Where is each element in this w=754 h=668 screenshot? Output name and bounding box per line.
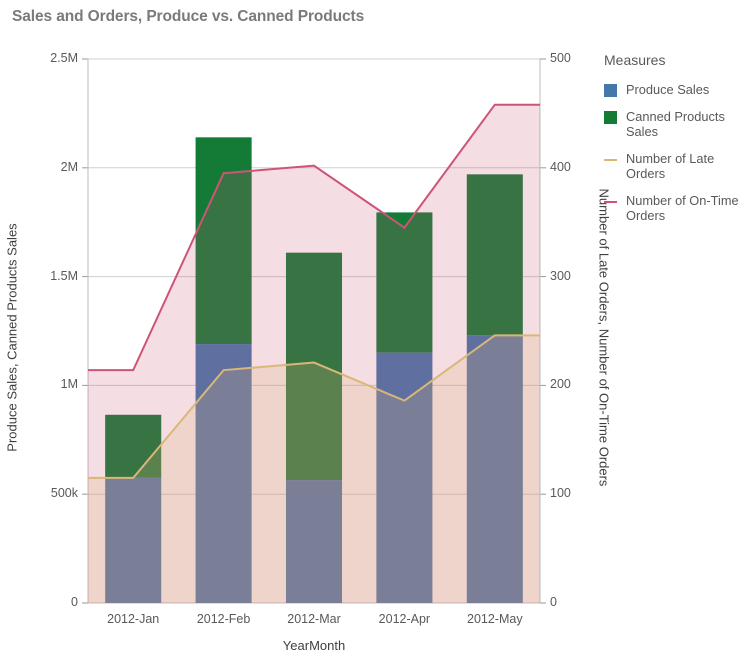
x-axis-tick-label[interactable]: 2012-Mar <box>268 612 360 626</box>
legend-item[interactable]: Canned Products Sales <box>604 109 750 140</box>
legend: Measures Produce SalesCanned Products Sa… <box>604 52 750 235</box>
legend-item-label: Canned Products Sales <box>626 109 750 140</box>
legend-item[interactable]: Number of Late Orders <box>604 151 750 182</box>
legend-item-label: Produce Sales <box>626 82 709 98</box>
legend-item-label: Number of On-Time Orders <box>626 193 750 224</box>
y-axis-left-tick-label: 500k <box>18 486 78 500</box>
x-axis-tick-label[interactable]: 2012-Jan <box>87 612 179 626</box>
legend-line-icon <box>604 153 617 166</box>
x-axis-tick-label[interactable]: 2012-May <box>449 612 541 626</box>
legend-title: Measures <box>604 52 750 68</box>
y-axis-right-tick-label: 500 <box>550 51 610 65</box>
legend-item[interactable]: Number of On-Time Orders <box>604 193 750 224</box>
y-axis-left-tick-label: 2M <box>18 160 78 174</box>
y-axis-right-tick-label: 400 <box>550 160 610 174</box>
legend-swatch-icon <box>604 111 617 124</box>
legend-swatch-icon <box>604 84 617 97</box>
legend-items: Produce SalesCanned Products SalesNumber… <box>604 82 750 224</box>
y-axis-left-tick-label: 1.5M <box>18 269 78 283</box>
y-axis-left-tick-label: 2.5M <box>18 51 78 65</box>
legend-line-icon <box>604 195 617 208</box>
y-axis-right-tick-label: 100 <box>550 486 610 500</box>
y-axis-left-tick-label: 0 <box>18 595 78 609</box>
legend-item-label: Number of Late Orders <box>626 151 750 182</box>
y-axis-left-title: Produce Sales, Canned Products Sales <box>5 208 20 468</box>
y-axis-right-tick-label: 300 <box>550 269 610 283</box>
x-axis-tick-label[interactable]: 2012-Feb <box>178 612 270 626</box>
x-axis-tick-label[interactable]: 2012-Apr <box>358 612 450 626</box>
y-axis-right-tick-label: 200 <box>550 377 610 391</box>
chart-container: Sales and Orders, Produce vs. Canned Pro… <box>0 0 754 668</box>
y-axis-right-tick-label: 0 <box>550 595 610 609</box>
x-axis-title: YearMonth <box>88 638 540 653</box>
legend-item[interactable]: Produce Sales <box>604 82 750 98</box>
y-axis-left-tick-label: 1M <box>18 377 78 391</box>
